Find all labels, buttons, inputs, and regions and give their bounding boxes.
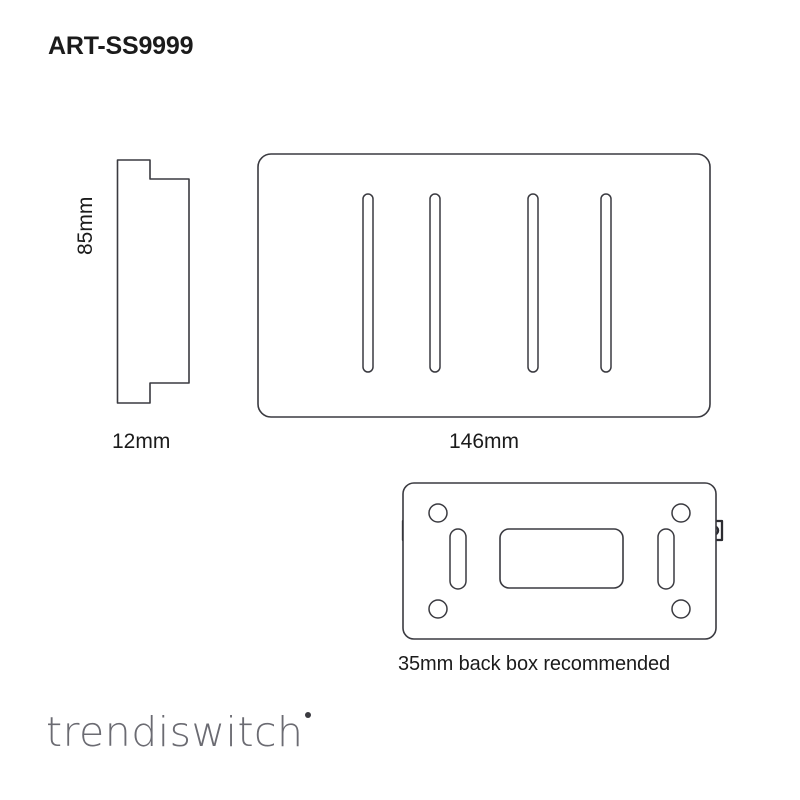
brand-logo: trendiswitch — [46, 712, 311, 753]
fixing-hole-top-right — [672, 504, 690, 522]
adjustment-slot-left — [450, 529, 466, 589]
brand-logo-dot-icon — [305, 712, 311, 718]
dimension-label-width: 146mm — [449, 430, 519, 454]
rocker-slot-1[interactable] — [363, 194, 373, 372]
fixing-hole-top-left — [429, 504, 447, 522]
side-profile-view — [100, 145, 210, 435]
brand-logo-text: trendiswitch — [46, 708, 304, 756]
page-title: ART-SS9999 — [48, 32, 193, 61]
rocker-slot-3[interactable] — [528, 194, 538, 372]
fixing-hole-bottom-right — [672, 600, 690, 618]
technical-drawing-sheet: ART-SS9999 85mm 12mm 146mm — [0, 0, 800, 800]
adjustment-slot-right — [658, 529, 674, 589]
rocker-slot-2[interactable] — [430, 194, 440, 372]
dimension-label-height: 85mm — [74, 197, 98, 255]
back-box-central-aperture — [500, 529, 623, 588]
rocker-slot-4[interactable] — [601, 194, 611, 372]
faceplate-outline — [258, 154, 710, 417]
dimension-label-depth: 12mm — [112, 430, 170, 454]
front-faceplate-view — [250, 146, 720, 426]
fixing-hole-bottom-left — [429, 600, 447, 618]
side-profile-outline — [118, 160, 190, 403]
back-box-view — [390, 472, 735, 652]
back-box-caption: 35mm back box recommended — [398, 653, 670, 676]
